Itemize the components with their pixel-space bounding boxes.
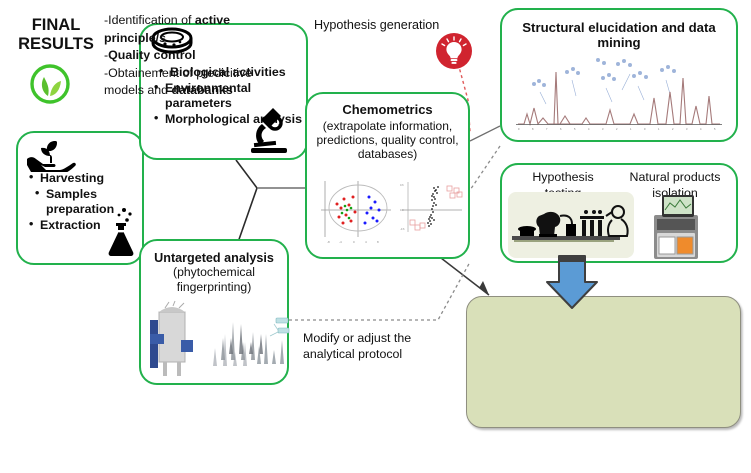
box-final-results[interactable]	[466, 296, 741, 428]
svg-text:5: 5	[574, 127, 576, 131]
svg-text:2: 2	[616, 127, 618, 131]
svg-text:9: 9	[518, 127, 520, 131]
svg-text:3: 3	[686, 127, 688, 131]
svg-text:0.0: 0.0	[400, 208, 404, 212]
svg-text:1: 1	[630, 127, 632, 131]
svg-text:4: 4	[700, 127, 702, 131]
hypothesis-generation-label: Hypothesis generation	[314, 17, 439, 33]
svg-text:3: 3	[602, 127, 604, 131]
list-item: •Harvesting	[40, 171, 142, 187]
result-bold: Quality control	[108, 48, 195, 62]
result-item: -Obtainement of predicitive models and d…	[104, 65, 268, 100]
svg-text:2: 2	[672, 127, 674, 131]
svg-text:5: 5	[714, 127, 716, 131]
chemometrics-subtitle: (extrapolate information, predictions, q…	[307, 119, 468, 161]
final-results-label: FINAL RESULTS	[10, 16, 102, 55]
flask-icon	[104, 206, 138, 256]
svg-text:6: 6	[560, 127, 562, 131]
hplc-instrument-icon	[648, 193, 704, 261]
svg-text:7: 7	[546, 127, 548, 131]
svg-text:4: 4	[365, 240, 367, 244]
lightbulb-icon	[435, 32, 473, 70]
result-prefix: -Identification of	[104, 13, 195, 27]
untargeted-subtitle: (phytochemical fingerprinting)	[141, 265, 287, 294]
final-results-text: -Identification of active principle/s -Q…	[104, 12, 268, 100]
list-item-label: Extraction	[40, 218, 101, 232]
nmr-spectrometer-icon	[147, 300, 199, 378]
bullet-dot: •	[29, 217, 33, 233]
svg-text:8: 8	[377, 240, 379, 244]
structural-title: Structural elucidation and data mining	[502, 20, 736, 50]
chromatogram-with-structures: 9876 5432 1012 345	[510, 52, 728, 136]
modify-protocol-label: Modify or adjust the analytical protocol	[303, 330, 453, 362]
final-results-line1: FINAL	[10, 16, 102, 35]
list-item-label: Harvesting	[40, 171, 104, 185]
bullet-dot: •	[35, 186, 39, 202]
svg-text:4: 4	[588, 127, 590, 131]
hand-plant-icon	[25, 138, 79, 172]
result-bold: databanks	[172, 83, 233, 97]
bullet-dot: •	[154, 111, 158, 127]
svg-text:8: 8	[532, 127, 534, 131]
workflow-diagram: •Harvesting •Samples preparation •Extrac…	[0, 0, 751, 473]
result-item: -Quality control	[104, 47, 268, 65]
svg-text:1: 1	[658, 127, 660, 131]
svg-text:-0.6: -0.6	[400, 227, 405, 231]
lab-bench-icon	[506, 190, 636, 260]
green-leaf-logo	[26, 60, 74, 108]
bullet-dot: •	[29, 170, 33, 186]
untargeted-title: Untargeted analysis	[141, 251, 287, 265]
svg-text:0.6: 0.6	[400, 183, 404, 187]
result-item: -Identification of active principle/s	[104, 12, 268, 47]
svg-text:-8: -8	[327, 240, 330, 244]
chemometrics-title: Chemometrics	[307, 103, 468, 118]
microscope-icon	[243, 104, 295, 156]
pca-score-plot: -8-4048	[313, 177, 393, 249]
svg-text:0: 0	[353, 240, 355, 244]
chromatogram-icon	[252, 312, 292, 372]
s-plot-scatter: 0.60.0-0.6	[392, 176, 466, 248]
svg-text:0: 0	[644, 127, 646, 131]
svg-text:-4: -4	[339, 240, 342, 244]
final-results-line2: RESULTS	[10, 35, 102, 54]
